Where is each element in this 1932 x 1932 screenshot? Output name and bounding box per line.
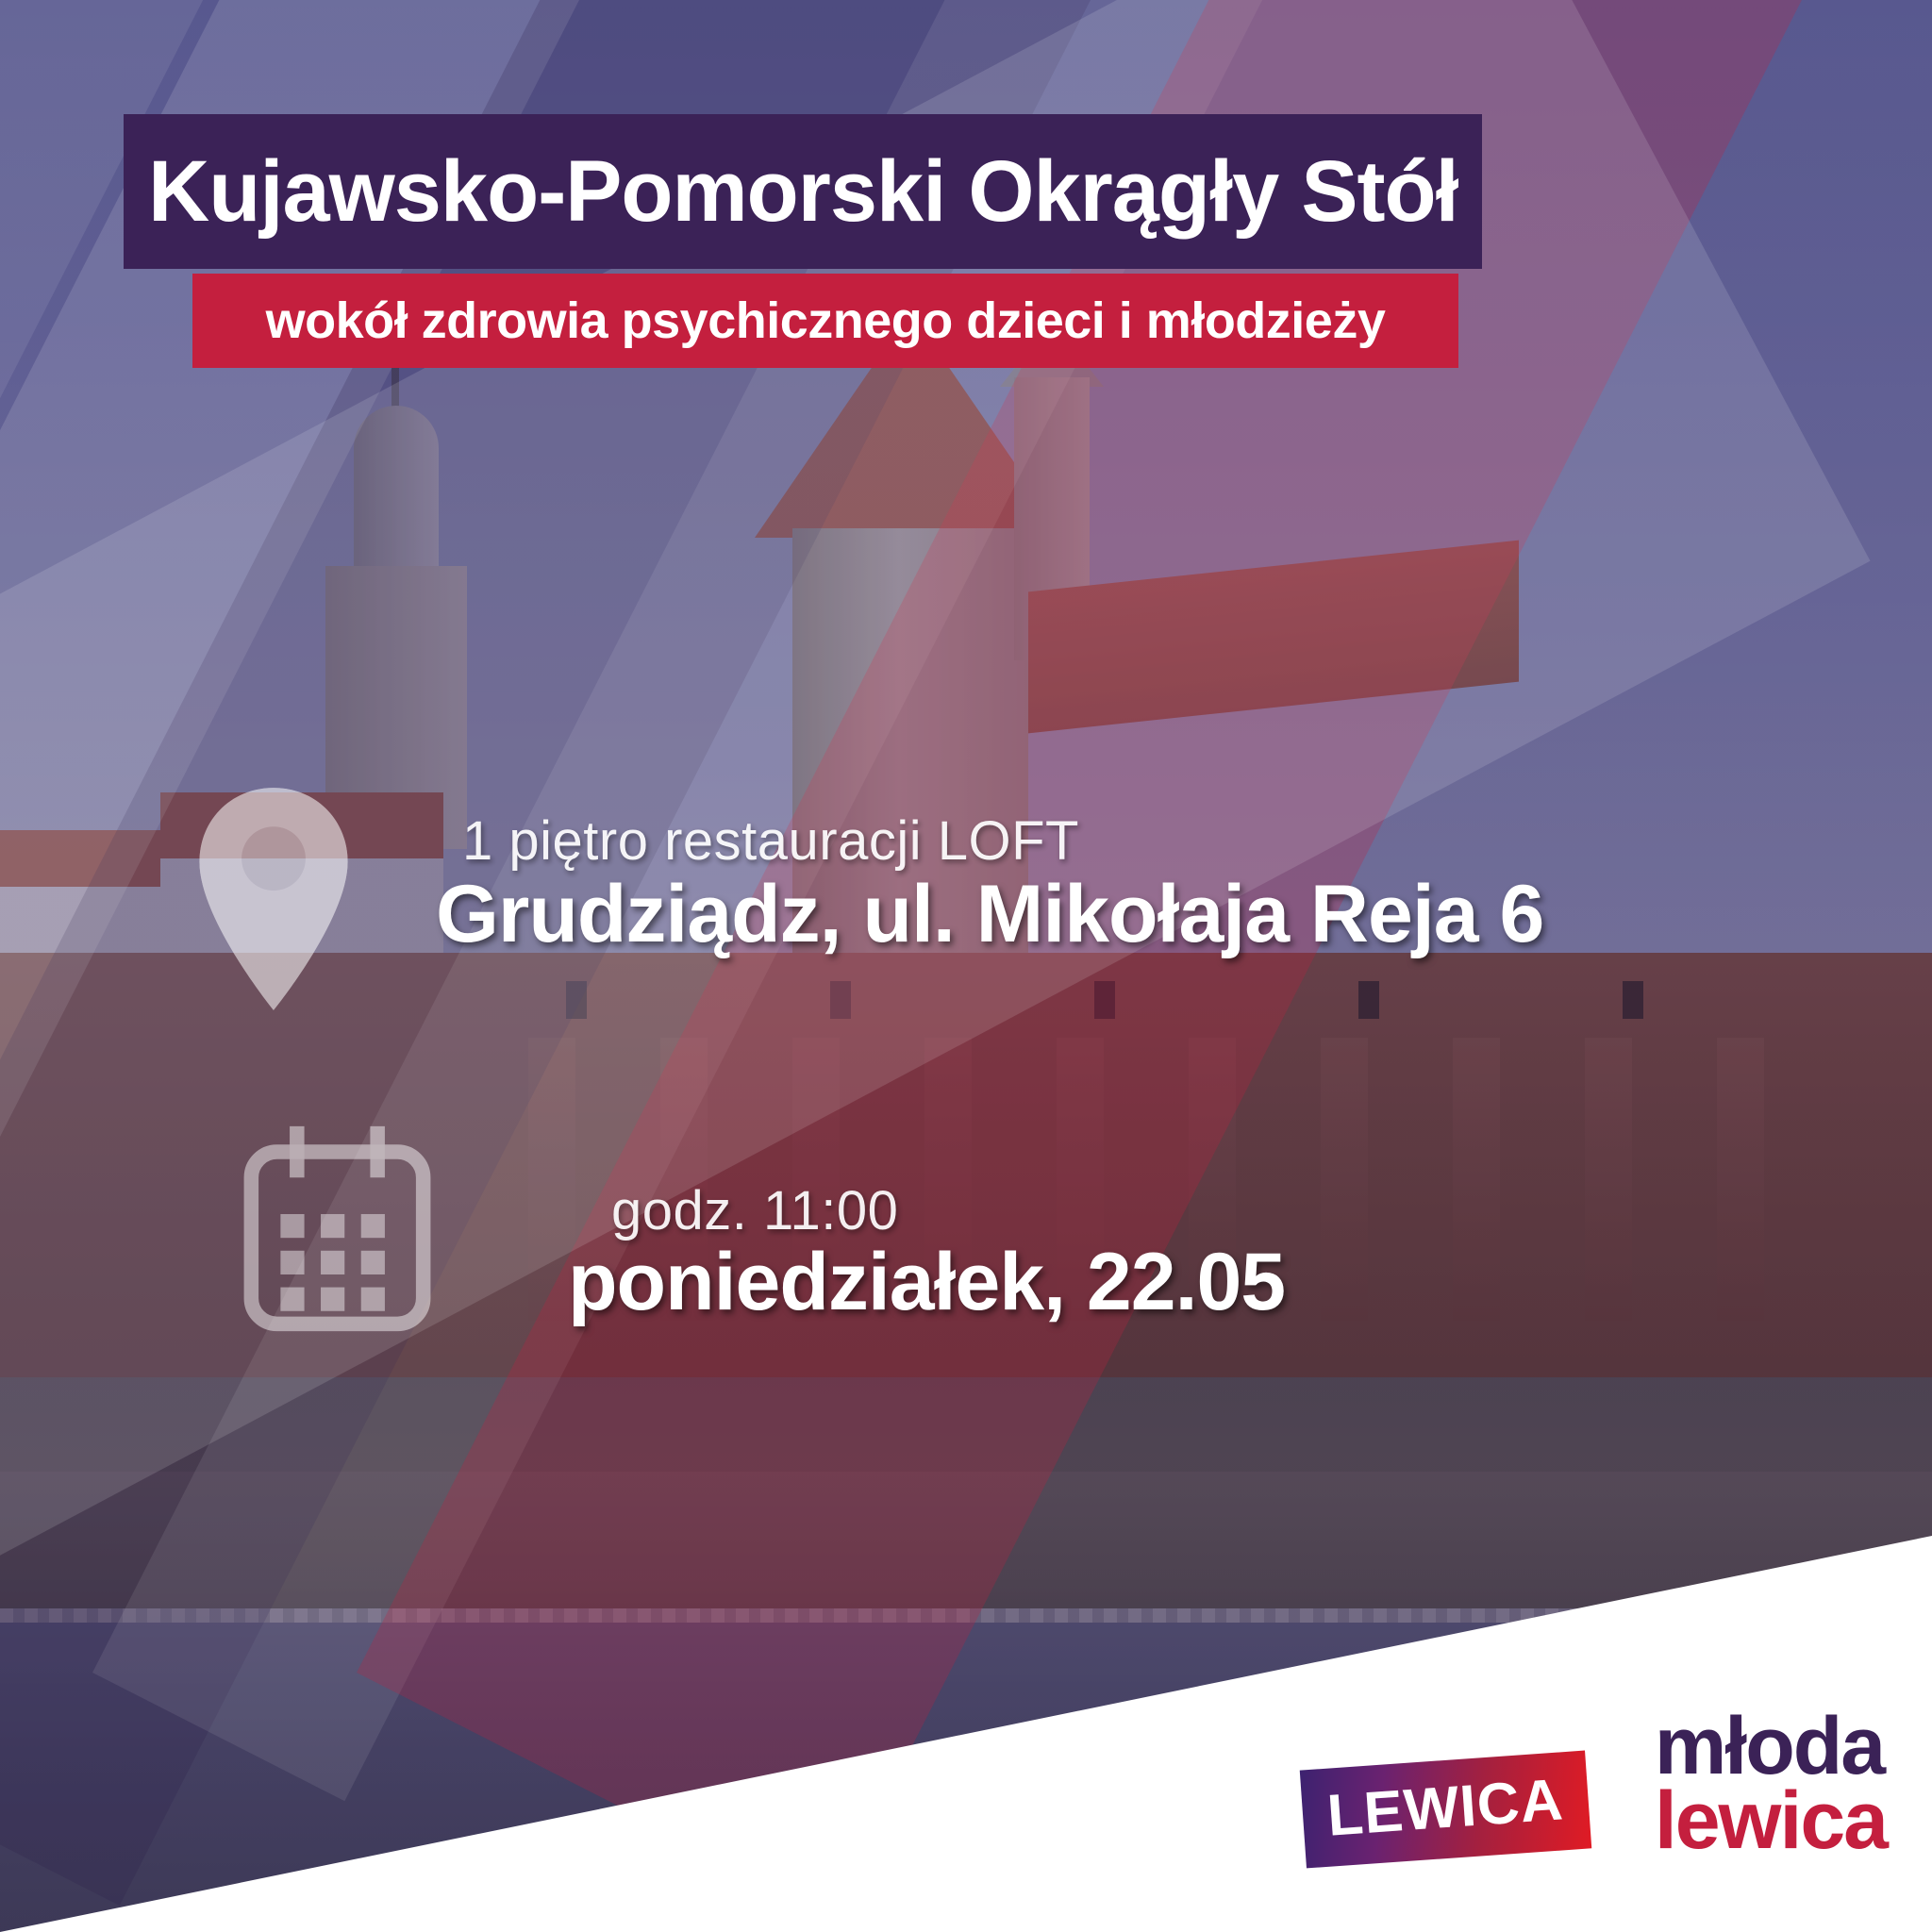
page-subtitle: wokół zdrowia psychicznego dzieci i młod… [266,295,1386,346]
location-address: Grudziądz, ul. Mikołaja Reja 6 [436,868,1543,961]
page-title: Kujawsko-Pomorski Okrągły Stół [148,148,1458,235]
lewica-logo-label: LEWICA [1325,1771,1565,1845]
mloda-lewica-line2: lewica [1655,1784,1887,1858]
event-date: poniedziałek, 22.05 [568,1236,1285,1329]
subtitle-banner: wokół zdrowia psychicznego dzieci i młod… [192,274,1458,368]
lewica-logo[interactable]: LEWICA [1300,1751,1591,1869]
title-banner: Kujawsko-Pomorski Okrągły Stół [124,114,1482,269]
datetime-block: godz. 11:00 poniedziałek, 22.05 [236,1123,1651,1368]
map-pin-icon [189,781,358,1017]
event-time: godz. 11:00 [611,1179,898,1242]
calendar-icon [236,1123,439,1335]
mloda-lewica-line1: młoda [1655,1709,1887,1784]
footer-logos: LEWICA młoda lewica [1303,1709,1887,1858]
event-poster: Kujawsko-Pomorski Okrągły Stół wokół zdr… [0,0,1932,1932]
mloda-lewica-logo[interactable]: młoda lewica [1655,1709,1887,1858]
location-block: 1 piętro restauracji LOFT Grudziądz, ul.… [189,774,1604,1038]
location-detail: 1 piętro restauracji LOFT [462,809,1079,873]
